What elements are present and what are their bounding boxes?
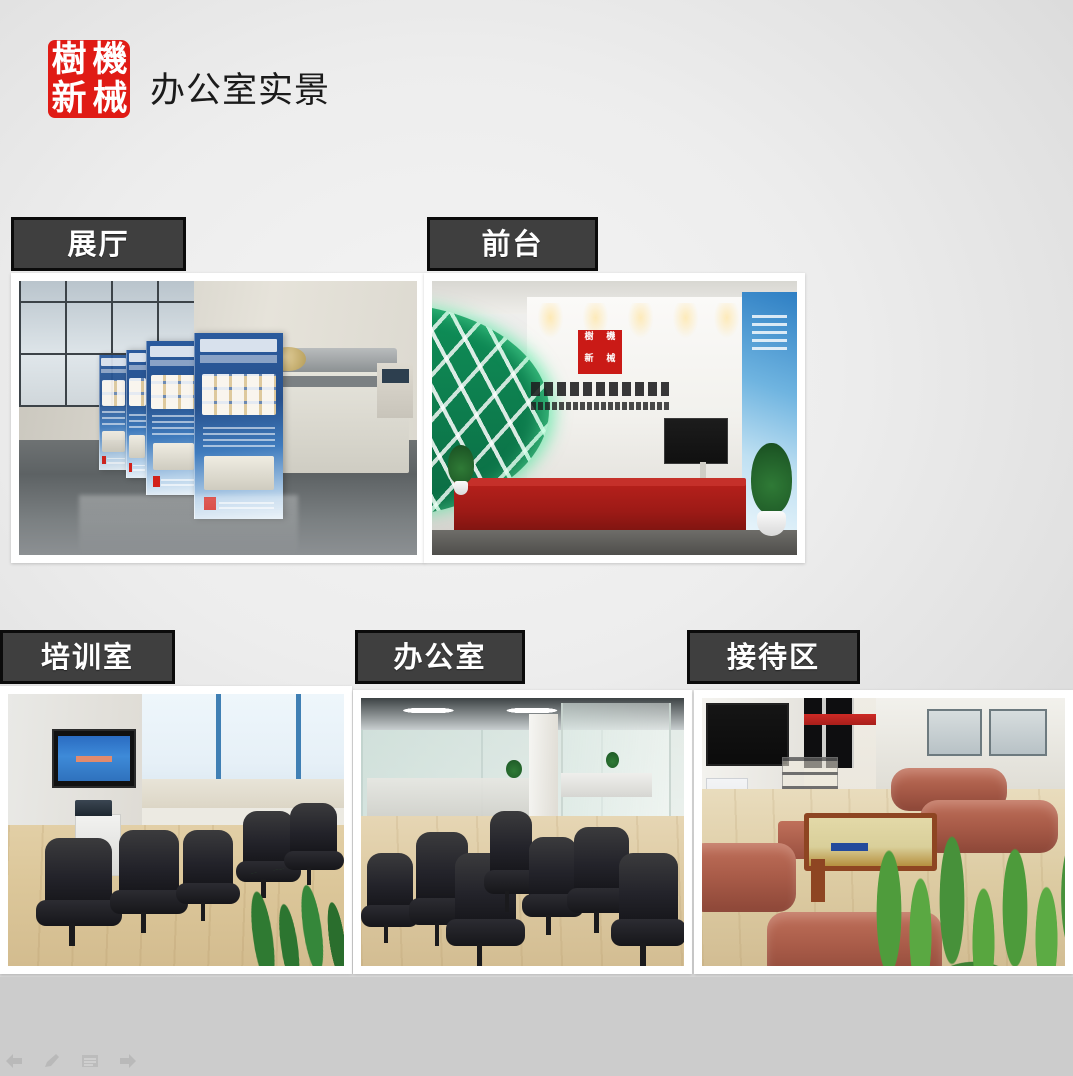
photo-image-area: 樹 機 新 械: [432, 281, 797, 555]
red-carpet-platform: [454, 484, 746, 533]
reception-area-photo[interactable]: [694, 690, 1073, 974]
front-desk-photo[interactable]: 樹 機 新 械: [424, 273, 805, 563]
wall-seal-char-4: 械: [600, 352, 622, 374]
office-chair: [490, 811, 532, 878]
logo-char-4: 械: [89, 79, 130, 118]
logo-char-3: 新: [48, 79, 89, 118]
wall-seal-char-1: 樹: [578, 330, 600, 352]
leather-sofa: [702, 843, 796, 913]
rollup-banner: [99, 355, 128, 470]
arrow-right-icon[interactable]: [118, 1052, 138, 1070]
office-chair: [619, 853, 677, 928]
caption-label: 接待区: [727, 643, 820, 672]
office-chair: [119, 830, 179, 898]
caption-label: 培训室: [41, 643, 134, 672]
wall-seal-char-3: 新: [578, 352, 600, 374]
wall-company-name-en: [531, 402, 670, 410]
caption-label: 展厅: [67, 230, 129, 259]
office-counter: [561, 773, 651, 797]
coffee-table-leg: [811, 859, 826, 902]
foreground-spider-plant: [862, 800, 1065, 966]
exhibition-hall-photo[interactable]: [11, 273, 425, 563]
pen-icon[interactable]: [42, 1052, 62, 1070]
menu-icon[interactable]: [80, 1052, 100, 1070]
caption-front-desk: 前台: [427, 217, 598, 271]
red-banner-strip: [800, 714, 876, 725]
scene-front-desk: 樹 機 新 械: [432, 281, 797, 555]
office-chair: [183, 830, 233, 890]
photo-image-area: [8, 694, 344, 966]
window: [927, 709, 982, 756]
photo-image-area: [19, 281, 417, 555]
arrow-left-icon[interactable]: [4, 1052, 24, 1070]
laptop: [75, 800, 112, 816]
scene-reception-area: [702, 698, 1065, 966]
rollup-banner-smc645: [194, 333, 283, 519]
slideshow-toolbar[interactable]: [4, 1048, 138, 1074]
office-chair: [45, 838, 112, 909]
scene-exhibition-hall: [19, 281, 417, 555]
wall-mounted-tv: [52, 729, 137, 787]
presentation-bottom-band: [0, 977, 1073, 1076]
training-windows: [136, 694, 344, 808]
lobby-tv: [664, 418, 728, 464]
caption-label: 办公室: [393, 643, 486, 672]
ceiling-spotlights: [534, 303, 738, 352]
slide-canvas: 樹 機 新 械 办公室实景 展厅 前台: [0, 0, 1073, 977]
shuxin-seal-logo: 樹 機 新 械: [48, 40, 130, 118]
flower-vase: [702, 725, 735, 768]
foreground-plant: [229, 861, 344, 966]
wall-seal-char-2: 機: [600, 330, 622, 352]
floor-reflection: [79, 495, 298, 555]
photo-image-area: [361, 698, 684, 966]
scene-office: [361, 698, 684, 966]
office-chair: [367, 853, 412, 912]
office-photo[interactable]: [353, 690, 692, 974]
potted-plant: [448, 445, 474, 483]
caption-exhibition-hall: 展厅: [11, 217, 186, 271]
caption-office: 办公室: [355, 630, 525, 684]
training-room-photo[interactable]: [0, 686, 352, 974]
page-title: 办公室实景: [150, 62, 330, 113]
rollup-banner: [146, 341, 199, 494]
rollup-banner: [126, 350, 147, 479]
wall-company-name-cn: [531, 382, 670, 396]
office-chair: [290, 803, 337, 857]
logo-char-2: 機: [89, 40, 130, 79]
caption-training-room: 培训室: [0, 630, 175, 684]
lobby-floor: [432, 530, 797, 555]
caption-reception-area: 接待区: [687, 630, 860, 684]
scene-training-room: [8, 694, 344, 966]
window: [989, 709, 1047, 756]
caption-label: 前台: [481, 230, 543, 259]
machine-control-panel: [377, 363, 413, 418]
potted-plant: [751, 443, 791, 514]
wall-seal-logo: 樹 機 新 械: [578, 330, 622, 374]
photo-image-area: [702, 698, 1065, 966]
slide-header: 樹 機 新 械 办公室实景: [0, 0, 1073, 160]
logo-char-1: 樹: [48, 40, 89, 79]
